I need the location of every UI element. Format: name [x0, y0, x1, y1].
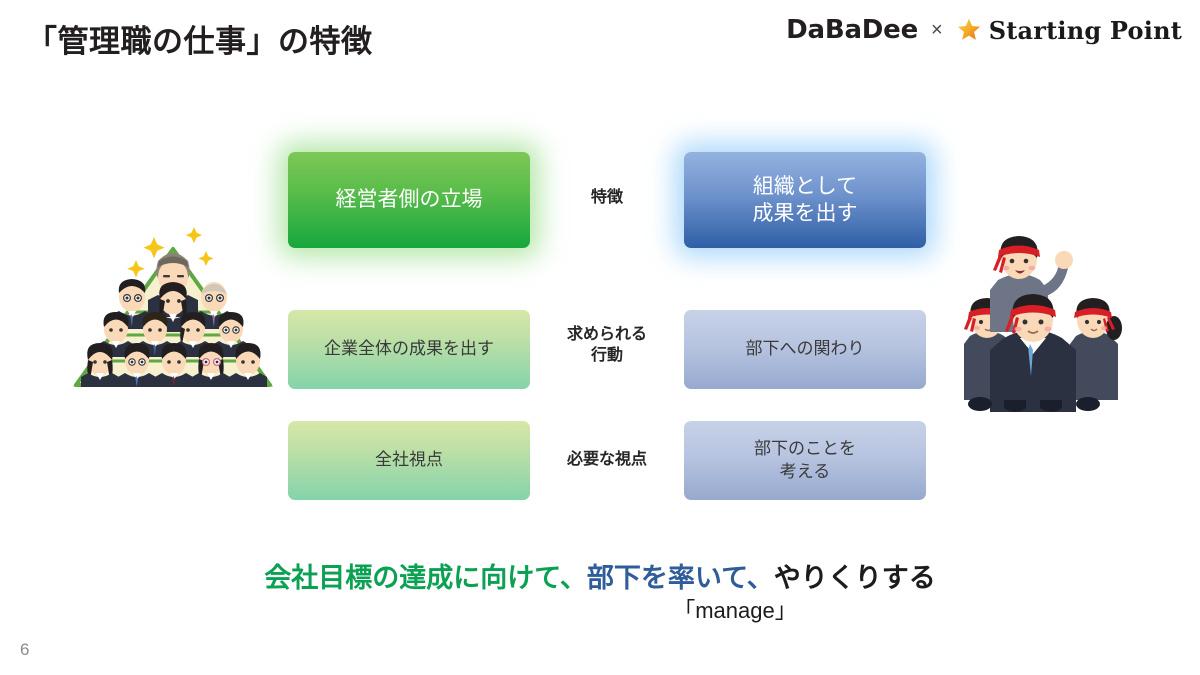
- cell-row3-left[interactable]: 全社視点: [288, 421, 530, 500]
- cell-row1-right-line2: 成果を出す: [753, 202, 858, 225]
- logo-starting-point-group: Starting Point: [956, 16, 1182, 45]
- summary-caption: 会社目標の達成に向けて、部下を率いて、やりくりする: [0, 556, 1200, 595]
- caption-segment-blue: 部下を率いて、: [587, 563, 774, 593]
- slide-canvas: 「管理職の仕事」の特徴 DaBaDee × Starting Point: [0, 0, 1200, 675]
- logo-starting-point: Starting Point: [989, 16, 1182, 45]
- logo-dabadee: DaBaDee: [786, 15, 918, 45]
- cell-row1-left[interactable]: 経営者側の立場: [288, 152, 530, 248]
- team-figure: [1070, 298, 1122, 400]
- caption-segment-green: 会社目標の達成に向けて、: [264, 563, 587, 593]
- caption-subtitle: 「manage」: [0, 593, 1200, 625]
- page-title: 「管理職の仕事」の特徴: [26, 16, 373, 61]
- logo-separator-x: ×: [931, 20, 943, 40]
- cell-row1-right-line1: 組織として: [753, 175, 857, 198]
- cell-row2-left[interactable]: 企業全体の成果を出す: [288, 310, 530, 389]
- caption-segment-black: やりくりする: [774, 563, 936, 593]
- mid-label-row1: 特徴: [530, 188, 684, 209]
- mid-label-row2-line1: 求められる: [567, 326, 647, 343]
- cell-row2-right[interactable]: 部下への関わり: [684, 310, 926, 389]
- star-icon: [956, 17, 982, 43]
- page-number: 6: [20, 640, 29, 660]
- cell-row3-right[interactable]: 部下のことを 考える: [684, 421, 926, 500]
- brand-logo-bar: DaBaDee × Starting Point: [786, 12, 1182, 48]
- team-hachimaki-illustration: [958, 228, 1133, 423]
- mid-label-row3: 必要な視点: [530, 450, 684, 471]
- cell-row3-right-line1: 部下のことを: [754, 439, 856, 458]
- cell-row3-right-line2: 考える: [780, 462, 831, 481]
- cell-row1-right[interactable]: 組織として 成果を出す: [684, 152, 926, 248]
- mid-label-row2-line2: 行動: [591, 347, 623, 364]
- corporate-pyramid-illustration: [70, 215, 285, 410]
- mid-label-row2: 求められる 行動: [530, 325, 684, 367]
